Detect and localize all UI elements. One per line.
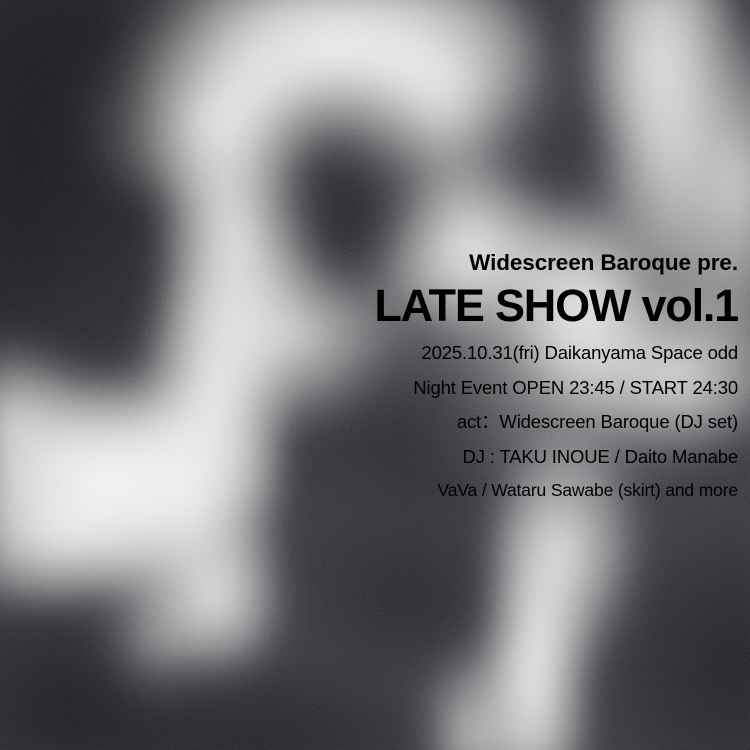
page-title: LATE SHOW vol.1 — [98, 283, 738, 329]
dj-line: DJ : TAKU INOUE / Daito Manabe — [98, 448, 738, 467]
open-start-time-line: Night Event OPEN 23:45 / START 24:30 — [98, 379, 738, 398]
presenter-line: Widescreen Baroque pre. — [98, 252, 738, 275]
lineup-line: VaVa / Wataru Sawabe (skirt) and more — [98, 482, 738, 500]
event-poster: Widescreen Baroque pre. LATE SHOW vol.1 … — [0, 0, 750, 750]
date-venue-line: 2025.10.31(fri) Daikanyama Space odd — [98, 344, 738, 363]
poster-text-block: Widescreen Baroque pre. LATE SHOW vol.1 … — [98, 252, 738, 500]
act-line: act：Widescreen Baroque (DJ set) — [98, 413, 738, 432]
